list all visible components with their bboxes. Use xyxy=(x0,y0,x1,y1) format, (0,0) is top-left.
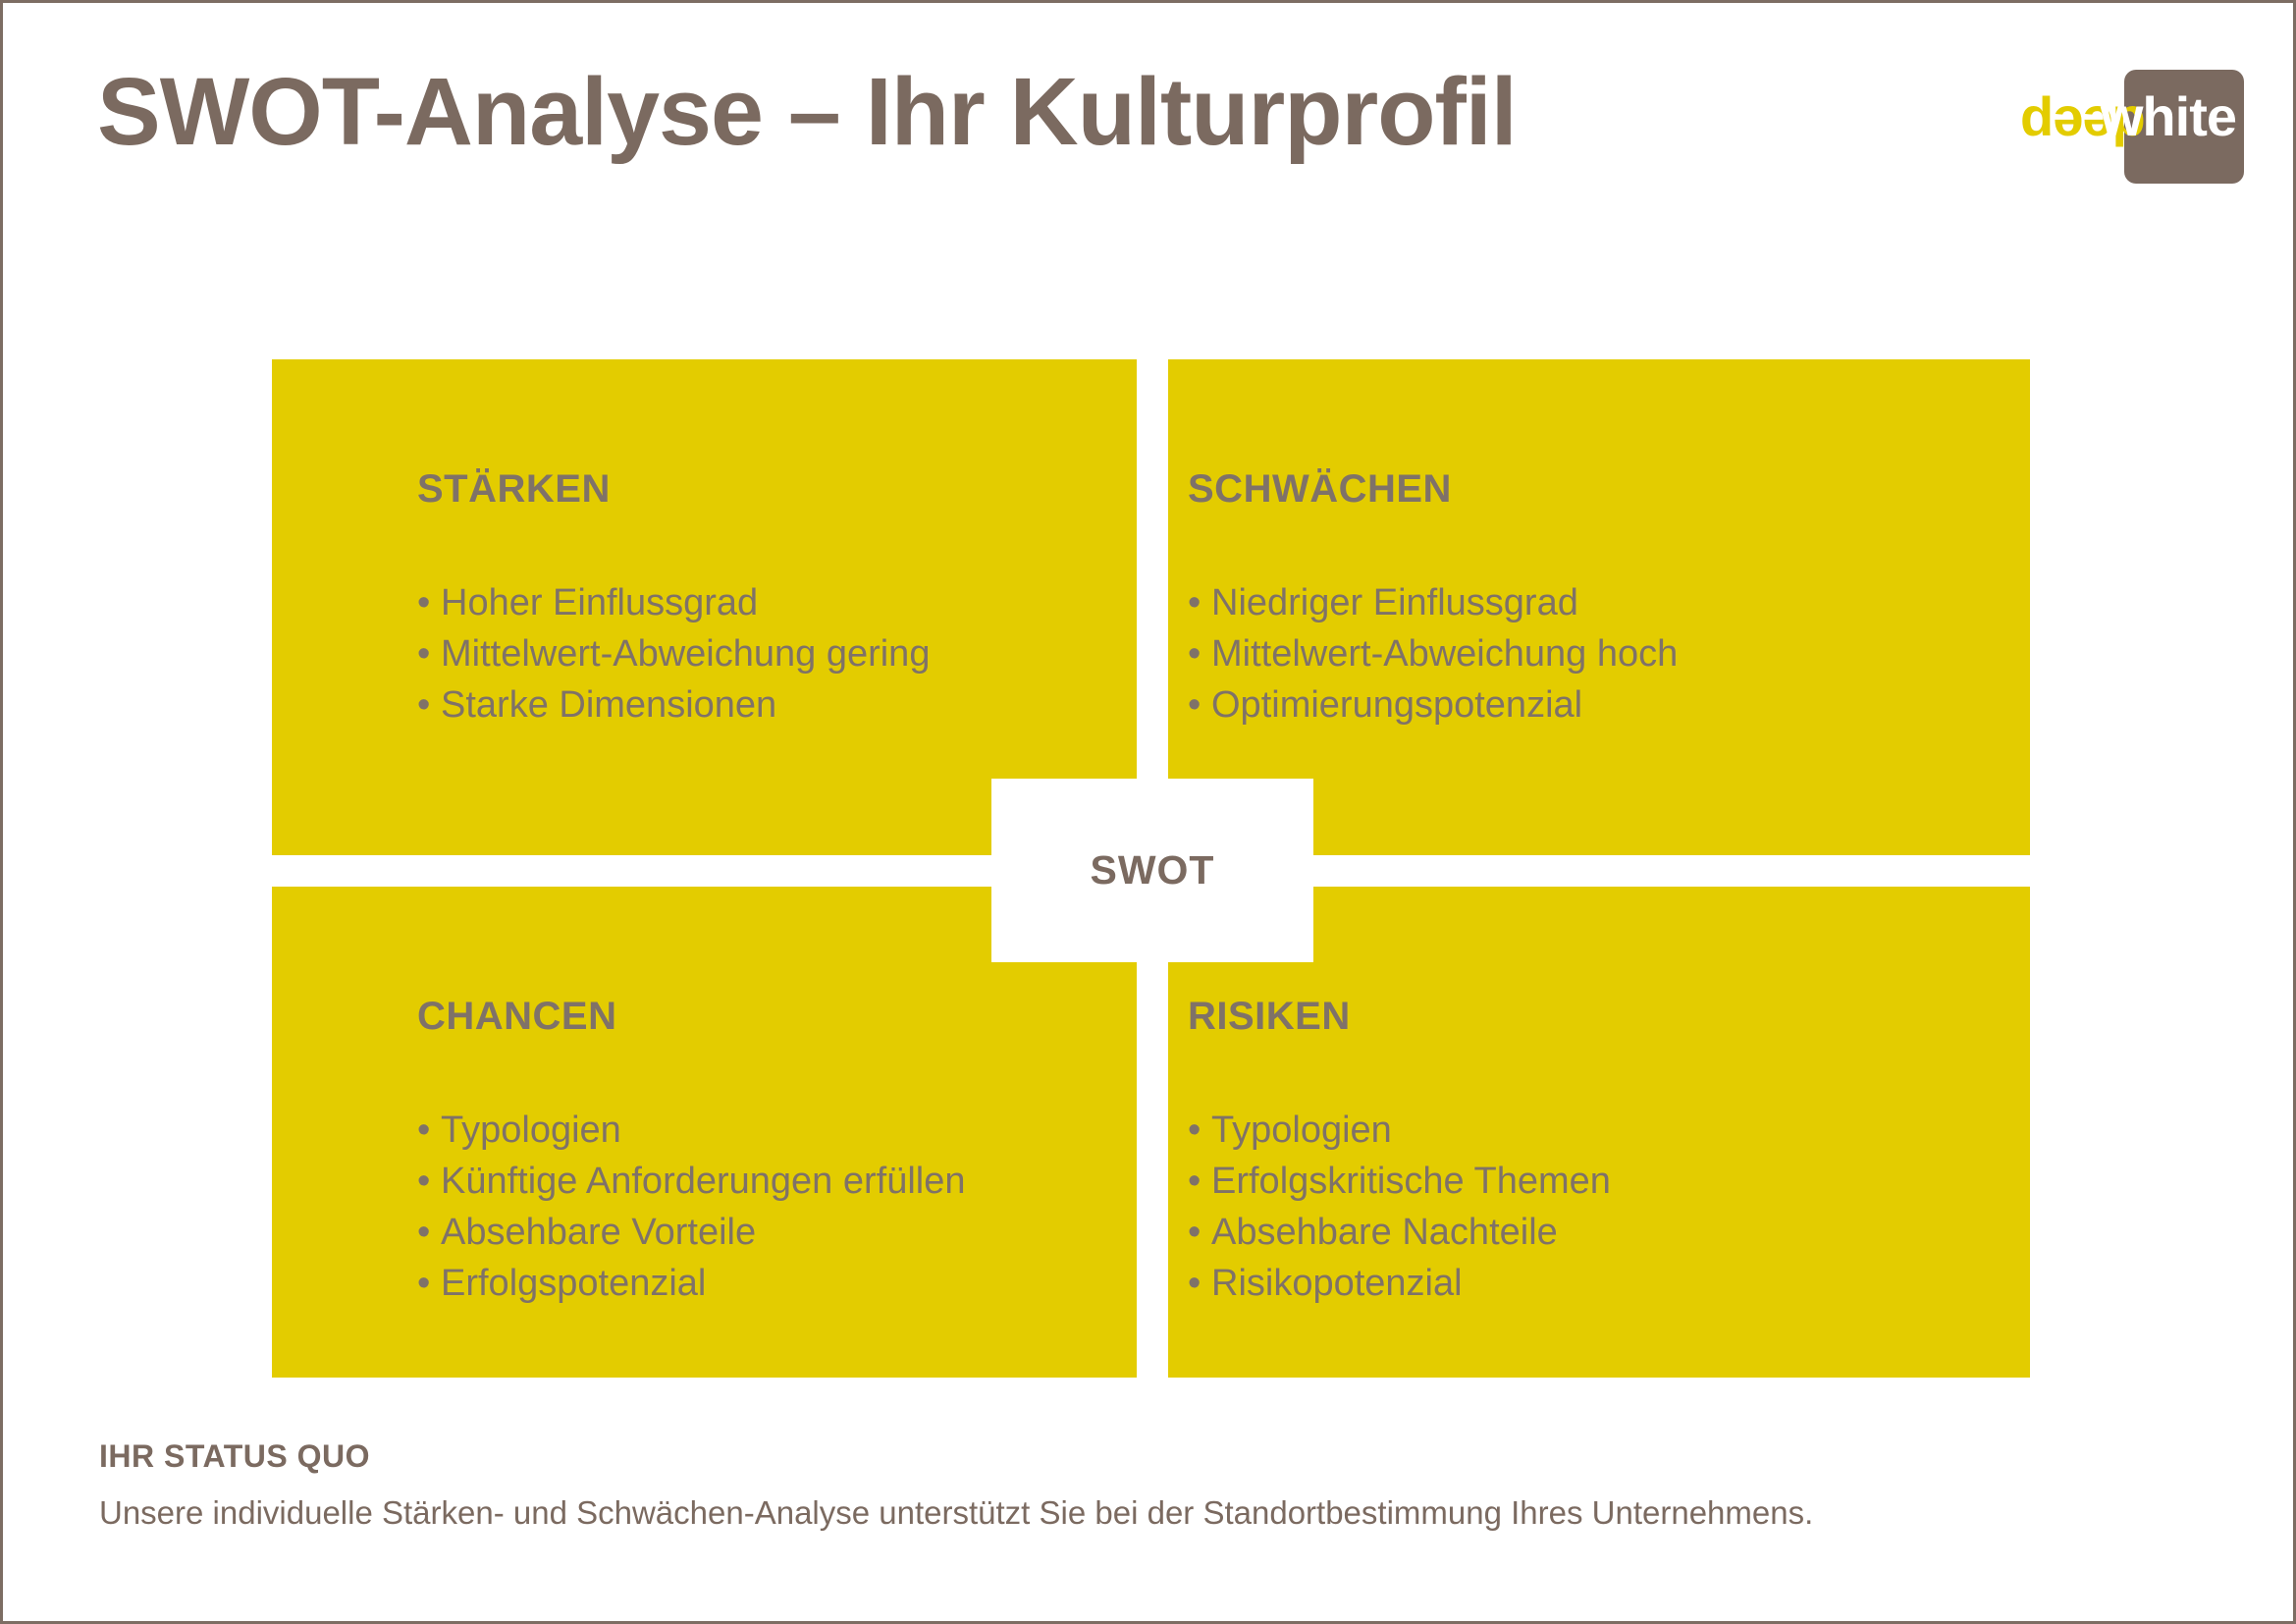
list-item: •Absehbare Nachteile xyxy=(1188,1207,1611,1258)
bullet-icon: • xyxy=(1188,577,1211,628)
bullet-icon: • xyxy=(1188,679,1211,731)
list-item: •Erfolgspotenzial xyxy=(417,1258,966,1309)
footer-title: IHR STATUS QUO xyxy=(99,1438,2161,1475)
bullet-icon: • xyxy=(417,1105,441,1156)
list-item: •Niedriger Einflussgrad xyxy=(1188,577,1678,628)
list-item-label: Hoher Einflussgrad xyxy=(441,582,758,623)
list-item-label: Mittelwert-Abweichung gering xyxy=(441,633,930,675)
logo-white-text: white xyxy=(2101,89,2236,144)
list-item: •Absehbare Vorteile xyxy=(417,1207,966,1258)
list-item: •Erfolgskritische Themen xyxy=(1188,1156,1611,1207)
quadrant-threats-title: RISIKEN xyxy=(1188,995,1351,1039)
quadrant-weaknesses-list: •Niedriger Einflussgrad •Mittelwert-Abwe… xyxy=(1188,577,1678,731)
bullet-icon: • xyxy=(417,628,441,679)
bullet-icon: • xyxy=(417,1207,441,1258)
bullet-icon: • xyxy=(417,1156,441,1207)
quadrant-opportunities-list: •Typologien •Künftige Anforderungen erfü… xyxy=(417,1105,966,1309)
list-item-label: Erfolgspotenzial xyxy=(441,1263,706,1304)
list-item-label: Typologien xyxy=(1211,1110,1392,1151)
swot-center-box: SWOT xyxy=(991,779,1313,962)
list-item: •Hoher Einflussgrad xyxy=(417,577,930,628)
list-item: •Künftige Anforderungen erfüllen xyxy=(417,1156,966,1207)
list-item: •Typologien xyxy=(417,1105,966,1156)
bullet-icon: • xyxy=(417,1258,441,1309)
list-item-label: Typologien xyxy=(441,1110,621,1151)
bullet-icon: • xyxy=(1188,1258,1211,1309)
list-item-label: Starke Dimensionen xyxy=(441,684,776,726)
list-item-label: Erfolgskritische Themen xyxy=(1211,1161,1611,1202)
quadrant-threats-list: •Typologien •Erfolgskritische Themen •Ab… xyxy=(1188,1105,1611,1309)
bullet-icon: • xyxy=(1188,628,1211,679)
swot-center-label: SWOT xyxy=(1091,847,1215,893)
list-item: •Mittelwert-Abweichung hoch xyxy=(1188,628,1678,679)
list-item-label: Absehbare Nachteile xyxy=(1211,1212,1558,1253)
brand-logo: dəəp white xyxy=(2020,70,2244,184)
list-item-label: Optimierungspotenzial xyxy=(1211,684,1582,726)
quadrant-strengths-list: •Hoher Einflussgrad •Mittelwert-Abweichu… xyxy=(417,577,930,731)
quadrant-strengths-title: STÄRKEN xyxy=(417,467,611,512)
footer: IHR STATUS QUO Unsere individuelle Stärk… xyxy=(99,1438,2161,1535)
list-item-label: Niedriger Einflussgrad xyxy=(1211,582,1578,623)
bullet-icon: • xyxy=(1188,1156,1211,1207)
quadrant-opportunities-title: CHANCEN xyxy=(417,995,617,1039)
list-item-label: Risikopotenzial xyxy=(1211,1263,1463,1304)
list-item: •Mittelwert-Abweichung gering xyxy=(417,628,930,679)
page-title: SWOT-Analyse – Ihr Kulturprofil xyxy=(97,60,1517,165)
list-item: •Typologien xyxy=(1188,1105,1611,1156)
list-item-label: Mittelwert-Abweichung hoch xyxy=(1211,633,1678,675)
bullet-icon: • xyxy=(1188,1207,1211,1258)
bullet-icon: • xyxy=(417,679,441,731)
footer-text: Unsere individuelle Stärken- und Schwäch… xyxy=(99,1492,2161,1535)
bullet-icon: • xyxy=(1188,1105,1211,1156)
quadrant-weaknesses-title: SCHWÄCHEN xyxy=(1188,467,1452,512)
list-item: •Optimierungspotenzial xyxy=(1188,679,1678,731)
list-item: •Starke Dimensionen xyxy=(417,679,930,731)
list-item: •Risikopotenzial xyxy=(1188,1258,1611,1309)
list-item-label: Künftige Anforderungen erfüllen xyxy=(441,1161,966,1202)
slide-root: SWOT-Analyse – Ihr Kulturprofil dəəp whi… xyxy=(0,0,2296,1624)
list-item-label: Absehbare Vorteile xyxy=(441,1212,756,1253)
bullet-icon: • xyxy=(417,577,441,628)
